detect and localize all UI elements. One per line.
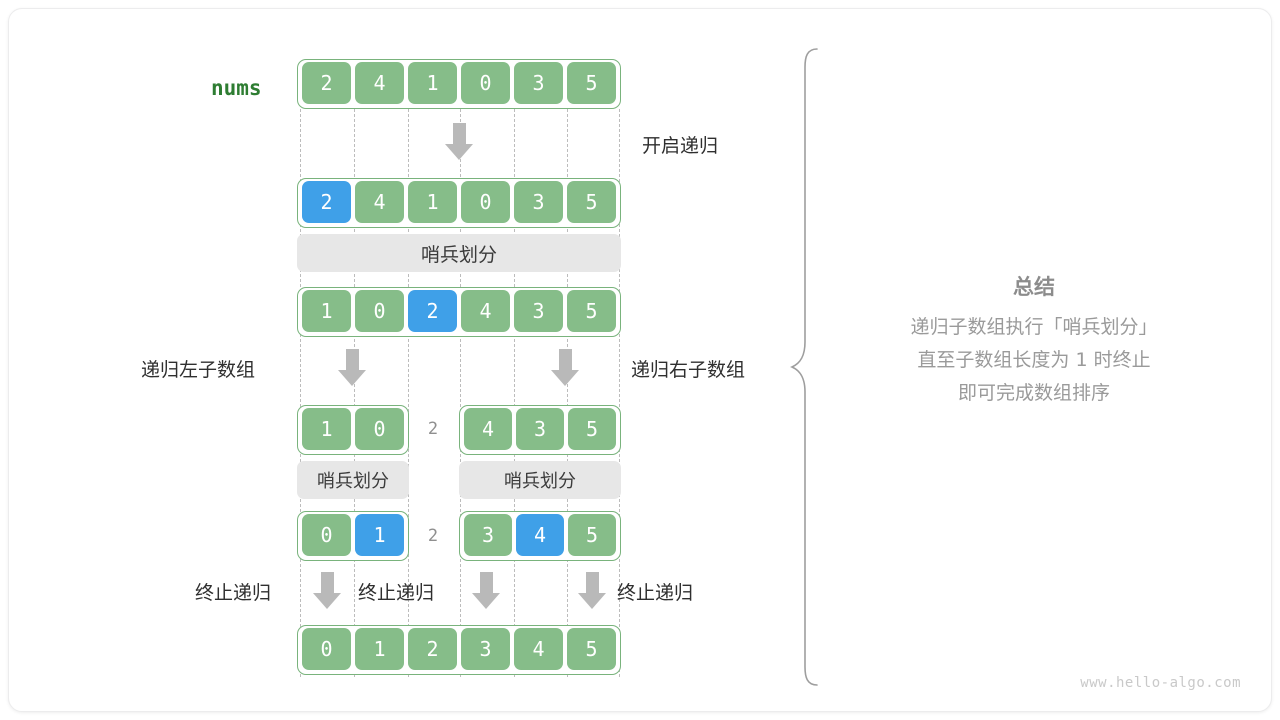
array-cell: 5: [567, 181, 616, 223]
diagram-canvas: nums 2 4 1 0 3 5 开启递归 2 4 1 0 3 5 哨兵划分 1…: [8, 8, 1272, 712]
array-cell: 3: [514, 290, 563, 332]
operation-bar-partition-full: 哨兵划分: [297, 234, 621, 272]
array-cell: 4: [464, 408, 512, 450]
pivot-standalone-value: 2: [406, 419, 460, 439]
summary-line-1: 递归子数组执行「哨兵划分」: [854, 311, 1214, 344]
array-cell: 5: [568, 514, 616, 556]
array-cell: 4: [355, 62, 404, 104]
summary-panel: 总结 递归子数组执行「哨兵划分」 直至子数组长度为 1 时终止 即可完成数组排序: [854, 271, 1214, 410]
array-cell: 1: [408, 62, 457, 104]
array-row-pivot-marked: 2 4 1 0 3 5: [297, 178, 621, 228]
label-stop-recursion-3: 终止递归: [617, 578, 693, 605]
array-cell-pivot: 4: [516, 514, 564, 556]
array-cell: 4: [355, 181, 404, 223]
label-recurse-right-subarray: 递归右子数组: [631, 355, 745, 382]
array-cell: 0: [461, 62, 510, 104]
array-cell: 0: [355, 408, 404, 450]
array-row-right-subarray: 4 3 5: [459, 405, 621, 455]
array-cell: 2: [408, 628, 457, 670]
array-row-partitioned: 1 0 2 4 3 5: [297, 287, 621, 337]
summary-line-2: 直至子数组长度为 1 时终止: [854, 344, 1214, 377]
array-row-left-subarray-partitioned: 0 1: [297, 511, 409, 561]
array-cell: 5: [567, 290, 616, 332]
label-start-recursion: 开启递归: [642, 131, 718, 158]
array-cell: 1: [302, 290, 351, 332]
array-cell: 5: [568, 408, 616, 450]
summary-line-3: 即可完成数组排序: [854, 377, 1214, 410]
watermark: www.hello-algo.com: [1080, 675, 1241, 691]
array-cell: 5: [567, 628, 616, 670]
array-cell: 0: [461, 181, 510, 223]
array-cell: 3: [461, 628, 510, 670]
array-cell-pivot: 2: [408, 290, 457, 332]
array-cell: 0: [302, 628, 351, 670]
array-cell: 1: [408, 181, 457, 223]
down-arrow-icon: [338, 349, 367, 386]
array-cell: 4: [514, 628, 563, 670]
array-cell: 3: [516, 408, 564, 450]
operation-bar-partition-left: 哨兵划分: [297, 461, 409, 499]
array-cell: 3: [514, 181, 563, 223]
down-arrow-icon: [551, 349, 580, 386]
array-cell-pivot: 2: [302, 181, 351, 223]
down-arrow-icon: [472, 572, 501, 609]
array-row-sorted: 0 1 2 3 4 5: [297, 625, 621, 675]
array-cell-pivot: 1: [355, 514, 404, 556]
down-arrow-icon: [445, 123, 474, 160]
array-row-original: 2 4 1 0 3 5: [297, 59, 621, 109]
array-cell: 3: [464, 514, 512, 556]
label-recurse-left-subarray: 递归左子数组: [141, 355, 255, 382]
array-row-right-subarray-partitioned: 3 4 5: [459, 511, 621, 561]
array-cell: 1: [302, 408, 351, 450]
array-cell: 0: [355, 290, 404, 332]
down-arrow-icon: [313, 572, 342, 609]
variable-name-nums: nums: [211, 76, 262, 100]
array-cell: 5: [567, 62, 616, 104]
summary-title: 总结: [854, 271, 1214, 301]
array-cell: 4: [461, 290, 510, 332]
pivot-standalone-value: 2: [406, 526, 460, 546]
down-arrow-icon: [578, 572, 607, 609]
curly-brace-icon: [789, 47, 849, 687]
array-cell: 2: [302, 62, 351, 104]
array-cell: 3: [514, 62, 563, 104]
label-stop-recursion-1: 终止递归: [195, 578, 271, 605]
operation-bar-partition-right: 哨兵划分: [459, 461, 621, 499]
label-stop-recursion-2: 终止递归: [358, 578, 434, 605]
array-cell: 0: [302, 514, 351, 556]
array-cell: 1: [355, 628, 404, 670]
array-row-left-subarray: 1 0: [297, 405, 409, 455]
